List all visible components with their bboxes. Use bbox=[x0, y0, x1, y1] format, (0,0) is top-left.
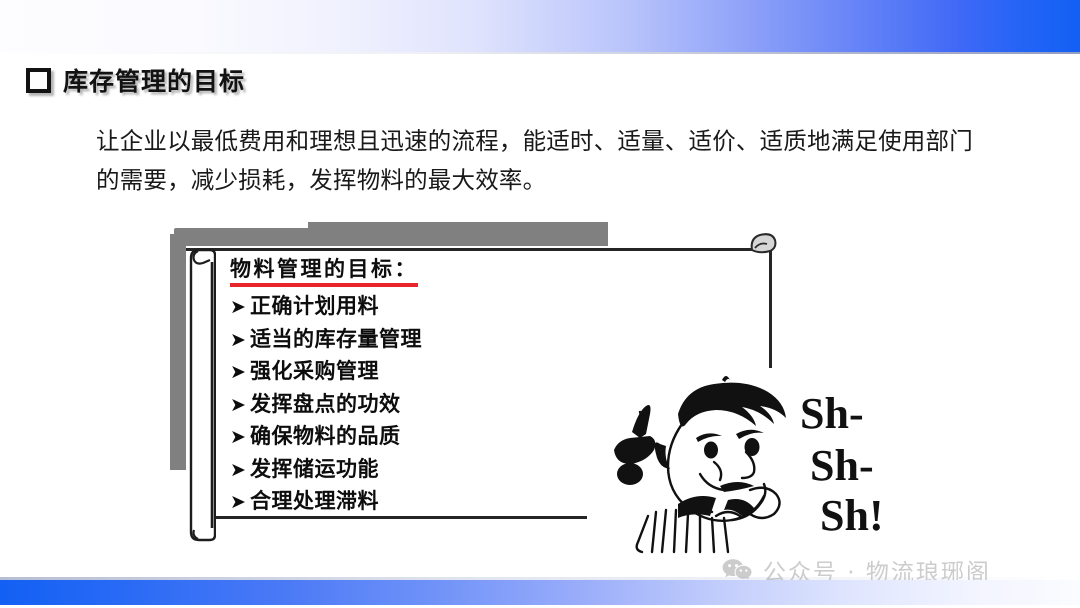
scroll-corner-curl-icon bbox=[746, 230, 780, 256]
scroll-content: 物料管理的目标： ➤ 正确计划用料 ➤ 适当的库存量管理 ➤ 强化采购管理 ➤ … bbox=[230, 256, 650, 519]
scroll-left-roller-icon bbox=[186, 246, 216, 544]
list-item-label: 确保物料的品质 bbox=[250, 421, 401, 453]
scroll-right-rule bbox=[769, 250, 772, 368]
arrow-bullet-icon: ➤ bbox=[230, 292, 248, 324]
scroll-top-rule bbox=[186, 248, 771, 251]
list-item-label: 发挥储运功能 bbox=[250, 454, 379, 486]
list-item-label: 发挥盘点的功效 bbox=[250, 389, 401, 421]
arrow-bullet-icon: ➤ bbox=[230, 422, 248, 454]
arrow-bullet-icon: ➤ bbox=[230, 390, 248, 422]
scroll-goal-list: ➤ 正确计划用料 ➤ 适当的库存量管理 ➤ 强化采购管理 ➤ 发挥盘点的功效 ➤… bbox=[230, 291, 650, 519]
body-paragraph: 让企业以最低费用和理想且迅速的流程，能适时、适量、适价、适质地满足使用部门的需要… bbox=[96, 122, 996, 200]
filled-square-bullet-icon bbox=[26, 68, 51, 93]
arrow-bullet-icon: ➤ bbox=[230, 487, 248, 519]
list-item-label: 强化采购管理 bbox=[250, 356, 379, 388]
list-item: ➤ 发挥盘点的功效 bbox=[230, 389, 650, 422]
arrow-bullet-icon: ➤ bbox=[230, 357, 248, 389]
scroll-title: 物料管理的目标： bbox=[230, 256, 418, 287]
bottom-gradient-bar bbox=[0, 580, 1080, 605]
page-title-text: 库存管理的目标 bbox=[63, 62, 245, 98]
list-item-label: 合理处理滞料 bbox=[250, 486, 379, 518]
cartoon-speech-line-2: Sh- bbox=[810, 441, 874, 490]
page-title: 库存管理的目标 bbox=[26, 62, 245, 98]
list-item-label: 适当的库存量管理 bbox=[250, 324, 422, 356]
cartoon-man-shushing-illustration: Sh- Sh- Sh! bbox=[604, 366, 914, 556]
arrow-bullet-icon: ➤ bbox=[230, 455, 248, 487]
list-item-label: 正确计划用料 bbox=[250, 291, 379, 323]
list-item: ➤ 确保物料的品质 bbox=[230, 421, 650, 454]
arrow-bullet-icon: ➤ bbox=[230, 325, 248, 357]
cartoon-speech-line-1: Sh- bbox=[800, 389, 864, 438]
top-bar-edge-shadow bbox=[0, 52, 1080, 54]
list-item: ➤ 发挥储运功能 bbox=[230, 454, 650, 487]
list-item: ➤ 合理处理滞料 bbox=[230, 486, 650, 519]
cartoon-speech-line-3: Sh! bbox=[820, 491, 884, 540]
list-item: ➤ 强化采购管理 bbox=[230, 356, 650, 389]
top-gradient-bar bbox=[0, 0, 1080, 52]
list-item: ➤ 适当的库存量管理 bbox=[230, 324, 650, 357]
list-item: ➤ 正确计划用料 bbox=[230, 291, 650, 324]
